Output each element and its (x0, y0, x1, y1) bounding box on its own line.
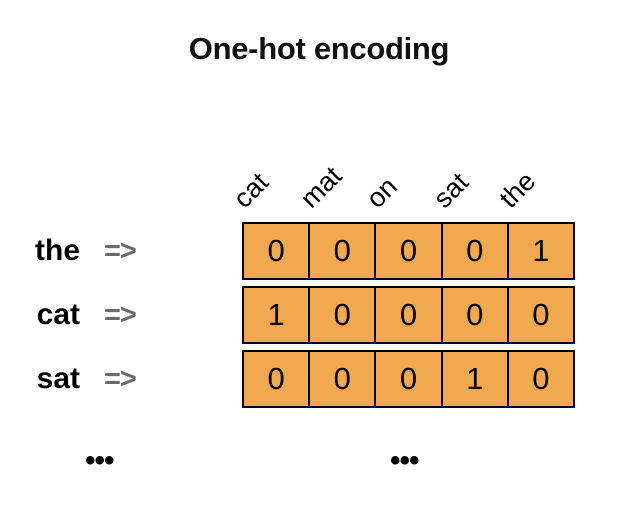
arrow-icon: => (104, 235, 136, 268)
column-header-the: the (508, 120, 575, 215)
matrix-cell: 0 (509, 288, 573, 342)
matrix-cell: 1 (443, 352, 509, 406)
ellipsis-rows: ••• (85, 446, 114, 476)
matrix-cell: 1 (509, 224, 573, 278)
row-label-the: the => (0, 222, 236, 280)
row-word: cat (0, 298, 80, 332)
matrix-cell: 1 (244, 288, 310, 342)
matrix-row: 0 0 0 1 0 (242, 350, 575, 408)
column-header-mat: mat (309, 120, 376, 215)
row-word: sat (0, 362, 80, 396)
arrow-icon: => (104, 363, 136, 396)
matrix-cell: 0 (443, 224, 509, 278)
matrix-cell: 0 (310, 224, 376, 278)
matrix-cell: 0 (376, 224, 442, 278)
matrix-cell: 0 (244, 224, 310, 278)
column-header-sat: sat (442, 120, 509, 215)
matrix-cell: 0 (376, 352, 442, 406)
column-header-cat: cat (242, 120, 309, 215)
matrix-cell: 0 (310, 352, 376, 406)
matrix-row: 1 0 0 0 0 (242, 286, 575, 344)
page-title: One-hot encoding (0, 31, 638, 67)
matrix-cell: 0 (244, 352, 310, 406)
matrix-cell: 0 (310, 288, 376, 342)
matrix-row: 0 0 0 0 1 (242, 222, 575, 280)
row-label-column: the => cat => sat => (0, 222, 236, 408)
row-label-cat: cat => (0, 286, 236, 344)
column-header-on: on (375, 120, 442, 215)
column-header-label: cat (229, 168, 274, 213)
row-word: the (0, 234, 80, 268)
matrix-cell: 0 (509, 352, 573, 406)
column-header-row: cat mat on sat the (242, 120, 575, 215)
ellipsis-matrix: ••• (390, 446, 419, 476)
arrow-icon: => (104, 299, 136, 332)
matrix-cell: 0 (376, 288, 442, 342)
matrix-cell: 0 (443, 288, 509, 342)
one-hot-matrix: 0 0 0 0 1 1 0 0 0 0 0 0 0 1 0 (242, 222, 575, 408)
row-label-sat: sat => (0, 350, 236, 408)
